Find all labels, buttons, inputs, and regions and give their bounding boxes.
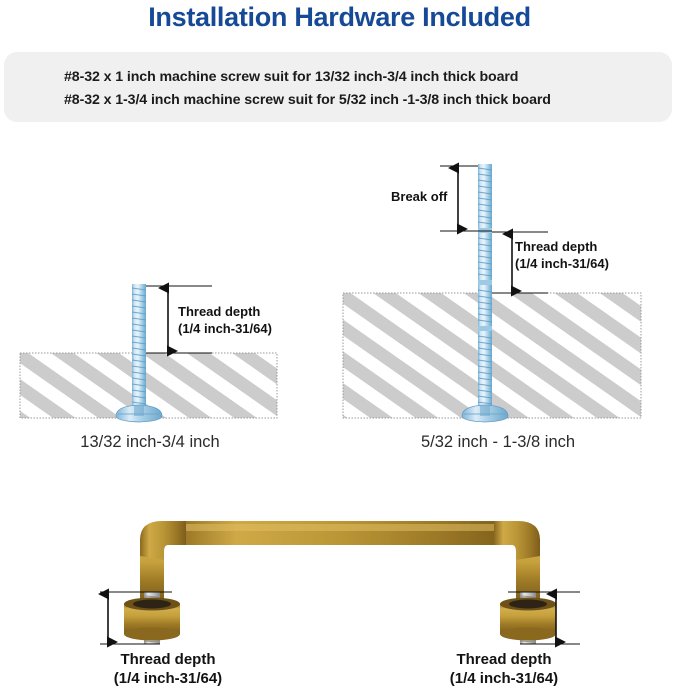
left-thread-depth-line2: (1/4 inch-31/64): [178, 320, 272, 337]
right-board-diagram: [343, 164, 641, 422]
handle-left-label-line2: (1/4 inch-31/64): [48, 669, 288, 688]
handle-right-label-line2: (1/4 inch-31/64): [384, 669, 624, 688]
right-thread-depth-line2: (1/4 inch-31/64): [515, 255, 609, 272]
left-thread-depth-line1: Thread depth: [178, 303, 272, 320]
handle-right-thread-depth-label: Thread depth (1/4 inch-31/64): [384, 650, 624, 688]
diagram-stage: [0, 0, 679, 690]
break-off-label: Break off: [391, 188, 447, 205]
break-off-text: Break off: [391, 188, 447, 205]
handle-left-thread-depth-label: Thread depth (1/4 inch-31/64): [48, 650, 288, 688]
right-board-caption: 5/32 inch - 1-3/8 inch: [348, 433, 648, 452]
handle-left-label-line1: Thread depth: [48, 650, 288, 669]
left-board-caption: 13/32 inch-3/4 inch: [0, 433, 300, 452]
handle-right-label-line1: Thread depth: [384, 650, 624, 669]
left-thread-depth-label: Thread depth (1/4 inch-31/64): [178, 303, 272, 337]
right-thread-depth-line1: Thread depth: [515, 238, 609, 255]
cabinet-pull-handle: [100, 521, 580, 644]
right-thread-depth-label: Thread depth (1/4 inch-31/64): [515, 238, 609, 272]
